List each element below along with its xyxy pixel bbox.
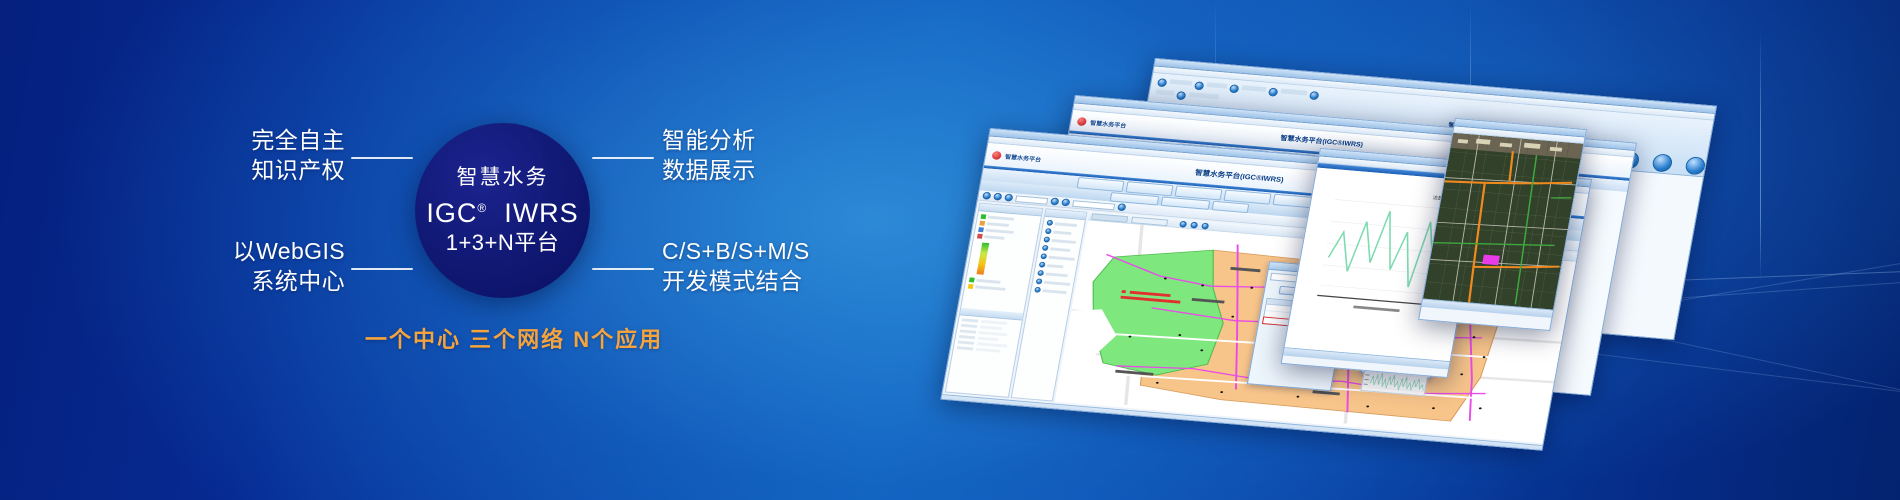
feature-top-right-line2: 数据展示 bbox=[662, 155, 892, 185]
ribbon-icon-small[interactable] bbox=[1229, 84, 1240, 93]
layer-label bbox=[985, 229, 1014, 234]
layer-label bbox=[988, 216, 1015, 221]
ribbon-label bbox=[1207, 82, 1228, 88]
toolbar-icon[interactable] bbox=[1004, 194, 1013, 202]
brand-logo-icon bbox=[991, 150, 1002, 159]
hub-product2: IWRS bbox=[504, 198, 579, 228]
tree-label bbox=[1055, 222, 1078, 227]
toolbar-icon[interactable] bbox=[982, 192, 991, 200]
tagline: 一个中心 三个网络 N个应用 bbox=[365, 322, 663, 354]
hub-line1: 智慧水务 bbox=[457, 165, 549, 190]
ribbon-icon-small[interactable] bbox=[1268, 88, 1279, 97]
attr-key bbox=[962, 318, 979, 322]
feature-bottom-right-line2: 开发模式结合 bbox=[662, 266, 912, 296]
feature-top-left-line2: 知识产权 bbox=[140, 155, 345, 185]
feature-label-bottom-left: 以WebGIS 系统中心 bbox=[130, 236, 345, 296]
ribbon-icon-large[interactable] bbox=[1684, 156, 1706, 175]
ribbon-icon-small[interactable] bbox=[1194, 81, 1205, 90]
tree-label bbox=[1042, 289, 1067, 294]
attr-key bbox=[959, 335, 976, 339]
feature-label-top-right: 智能分析 数据展示 bbox=[662, 125, 892, 185]
tree-node-icon[interactable] bbox=[1039, 262, 1046, 268]
ribbon-icon-large[interactable] bbox=[1651, 153, 1673, 172]
toolbar-icon[interactable] bbox=[993, 193, 1002, 201]
brand-logo-icon bbox=[1077, 117, 1088, 126]
feature-label-top-left: 完全自主 知识产权 bbox=[140, 125, 345, 185]
ribbon-icon-small[interactable] bbox=[1309, 91, 1320, 100]
tree-label bbox=[1047, 264, 1064, 268]
tree-node-icon[interactable] bbox=[1046, 220, 1053, 226]
satellite-selection-polygon bbox=[1482, 255, 1500, 266]
feature-bottom-left-line1: 以WebGIS bbox=[130, 236, 345, 266]
ribbon-label bbox=[1156, 89, 1175, 95]
attr-key bbox=[957, 346, 974, 350]
map-tool-icon[interactable] bbox=[1190, 221, 1198, 228]
hub-line3: 1+3+N平台 bbox=[446, 229, 560, 257]
layer-label bbox=[975, 285, 1006, 290]
tree-label bbox=[1050, 247, 1071, 251]
tree-node-icon[interactable] bbox=[1042, 245, 1049, 251]
ribbon-label bbox=[1189, 92, 1220, 99]
feature-bottom-right-line1: C/S+B/S+M/S bbox=[662, 236, 912, 266]
layer-label bbox=[984, 235, 1005, 239]
hub-circle: 智慧水务 IGC® IWRS 1+3+N平台 bbox=[415, 123, 590, 298]
feature-top-left-line1: 完全自主 bbox=[140, 125, 345, 155]
layer-label bbox=[976, 279, 1001, 284]
tree-label bbox=[1044, 280, 1071, 285]
feature-bottom-left-line2: 系统中心 bbox=[130, 266, 345, 296]
ribbon-icon-small[interactable] bbox=[1176, 91, 1187, 100]
window-middle-brand: 智慧水务平台 bbox=[1090, 118, 1128, 129]
tree-label bbox=[1045, 272, 1068, 277]
attr-key bbox=[961, 324, 978, 328]
tree-node-icon[interactable] bbox=[1036, 278, 1043, 284]
tree-label bbox=[1048, 255, 1075, 260]
connector-bottom-right bbox=[592, 268, 654, 270]
feature-label-bottom-right: C/S+B/S+M/S 开发模式结合 bbox=[662, 236, 912, 296]
toolbar-combobox[interactable] bbox=[1015, 195, 1048, 204]
connector-top-left bbox=[351, 157, 413, 159]
registered-icon: ® bbox=[477, 201, 487, 215]
hub-product-line: IGC® IWRS bbox=[426, 192, 578, 229]
perspective-vline-3 bbox=[1760, 30, 1761, 280]
legend-swatch bbox=[968, 284, 974, 289]
attr-val bbox=[978, 337, 999, 341]
feature-top-right-line1: 智能分析 bbox=[662, 125, 892, 155]
window-front-brand: 智慧水务平台 bbox=[1004, 152, 1042, 163]
attr-key bbox=[960, 329, 977, 333]
tree-node-icon[interactable] bbox=[1037, 270, 1044, 276]
toolbar-icon[interactable] bbox=[1117, 203, 1126, 211]
ribbon-icon-small[interactable] bbox=[1157, 78, 1168, 87]
map-tool-icon[interactable] bbox=[1179, 220, 1187, 227]
legend-swatch-green bbox=[981, 214, 987, 219]
hero-banner: 完全自主 知识产权 以WebGIS 系统中心 智能分析 数据展示 C/S+B/S… bbox=[0, 0, 1900, 500]
legend-swatch bbox=[969, 277, 975, 282]
legend-swatch-red bbox=[977, 234, 983, 239]
legend-swatch-orange bbox=[979, 221, 985, 226]
toolbar-icon[interactable] bbox=[1061, 198, 1070, 206]
attr-val bbox=[977, 342, 1008, 347]
ribbon-label bbox=[1242, 85, 1267, 92]
attr-val bbox=[980, 326, 1003, 331]
attr-val bbox=[979, 331, 1008, 336]
attr-val bbox=[981, 320, 1008, 325]
layer-label bbox=[986, 222, 1009, 227]
tree-node-icon[interactable] bbox=[1040, 253, 1047, 259]
attr-val bbox=[976, 348, 1001, 353]
legend-gradient-bar bbox=[976, 243, 989, 275]
attr-key bbox=[958, 341, 975, 345]
window-front-title: 智慧水务平台(IGC®IWRS) bbox=[1194, 167, 1284, 185]
tree-label bbox=[1052, 239, 1077, 244]
connector-bottom-left bbox=[351, 268, 413, 270]
map-tool-icon[interactable] bbox=[1201, 222, 1209, 229]
tree-node-icon[interactable] bbox=[1043, 237, 1050, 243]
connector-top-right bbox=[592, 157, 654, 159]
tree-node-icon[interactable] bbox=[1034, 287, 1041, 293]
toolbar-icon[interactable] bbox=[1050, 197, 1059, 205]
ribbon-label bbox=[1281, 89, 1308, 96]
legend-swatch-blue bbox=[978, 227, 984, 232]
tree-node-icon[interactable] bbox=[1045, 228, 1052, 234]
hub-product: IGC bbox=[426, 198, 477, 228]
ribbon-label bbox=[1170, 79, 1193, 86]
tree-label bbox=[1053, 230, 1072, 234]
